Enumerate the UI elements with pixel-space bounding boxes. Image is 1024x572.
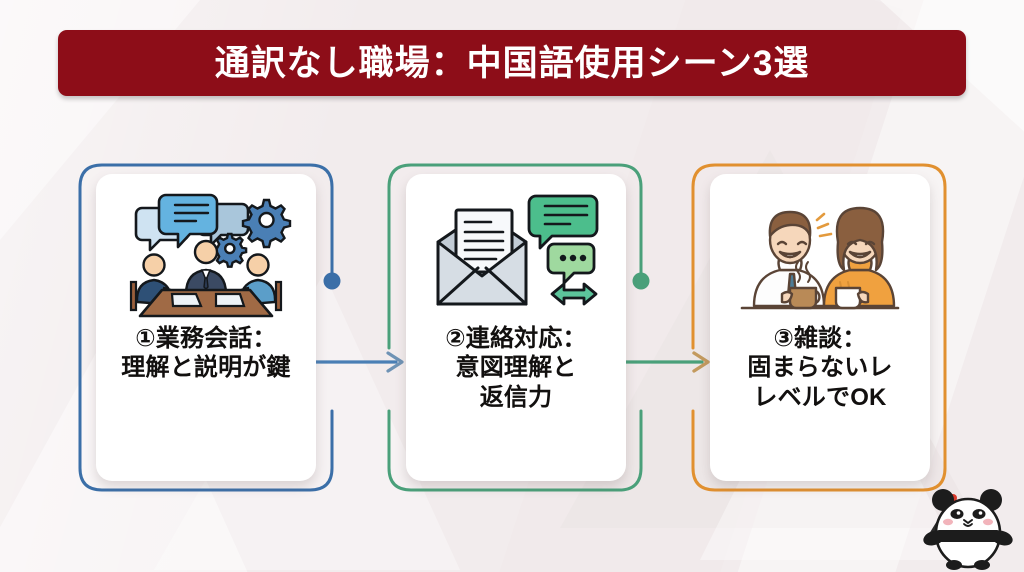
connector-step1-step2 [300,150,420,510]
step-label-line: 返信力 [414,383,619,412]
step-label-1: ①業務会話： 理解と説明が鍵 [104,324,309,383]
coffee-chat-icon [732,190,908,318]
step-label-line: ②連絡対応： [414,324,619,353]
step-label-line: レベルでOK [718,383,923,412]
step-card-2[interactable]: ②連絡対応： 意図理解と 返信力 [406,174,626,481]
step-card-1[interactable]: ①業務会話： 理解と説明が鍵 [96,174,316,481]
title-banner: 通訳なし職場：中国語使用シーン3選 [58,30,966,96]
step-label-3: ③雑談： 固まらないレ レベルでOK [718,324,923,412]
step-label-2: ②連絡対応： 意図理解と 返信力 [414,324,619,412]
meeting-conversation-icon [118,190,294,318]
page-title: 通訳なし職場：中国語使用シーン3選 [215,46,810,81]
step-label-line: ③雑談： [718,324,923,353]
email-reply-icon [428,190,604,318]
step-label-line: ①業務会話： [104,324,309,353]
panda-mascot [912,470,1018,570]
step-label-line: 固まらないレ [718,353,923,382]
step-label-line: 理解と説明が鍵 [104,353,309,382]
step-label-line: 意図理解と [414,353,619,382]
steps-container: ①業務会話： 理解と説明が鍵 [0,150,1024,510]
step-card-3[interactable]: ③雑談： 固まらないレ レベルでOK [710,174,930,481]
